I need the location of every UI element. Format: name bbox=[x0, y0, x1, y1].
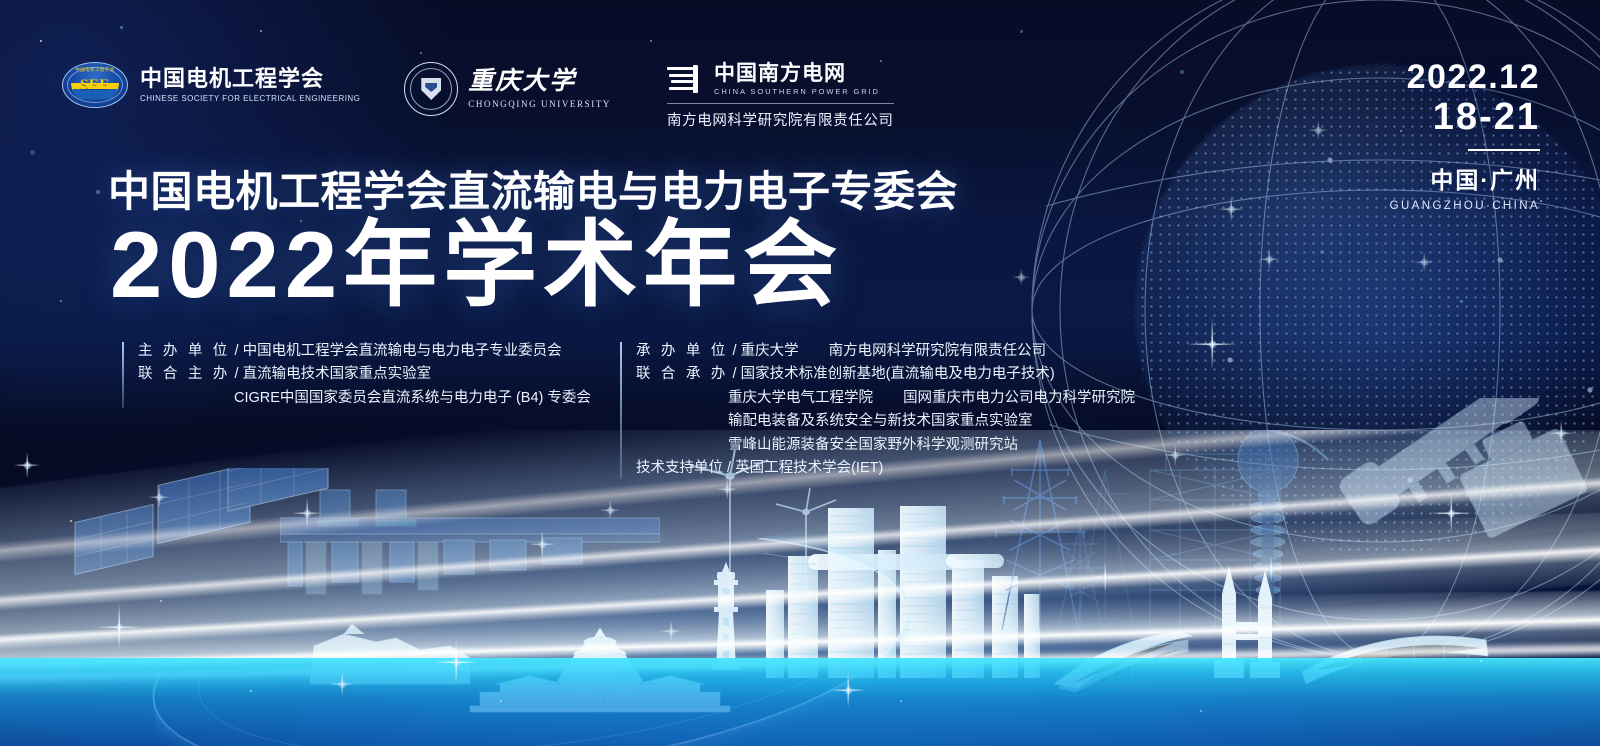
see-emblem-icon: 中国电机工程学会 SEE bbox=[62, 62, 128, 108]
info-accent-bar-left bbox=[122, 342, 124, 408]
logo-chinese-society-electrical-engineering: 中国电机工程学会 SEE 中国电机工程学会 CHINESE SOCIETY FO… bbox=[62, 62, 360, 108]
info-row-value: 英国工程技术学会(IET) bbox=[735, 460, 883, 476]
info-row: CIGRE中国国家委员会直流系统与电力电子 (B4) 专委会 bbox=[138, 387, 591, 410]
city-name-en: GUANGZHOU·CHINA bbox=[1390, 200, 1540, 212]
cyan-sea-foreground bbox=[0, 658, 1600, 746]
date-location-block: 2022.12 18-21 中国·广州 GUANGZHOU·CHINA bbox=[1390, 58, 1540, 212]
csg-divider bbox=[667, 103, 894, 104]
logo-chongqing-university: 重庆大学 CHONGQING UNIVERSITY bbox=[404, 62, 611, 116]
see-emblem-top-text: 中国电机工程学会 bbox=[63, 67, 127, 73]
info-row-value: 重庆大学电气工程学院 bbox=[728, 390, 873, 406]
partner-logo-bar: 中国电机工程学会 SEE 中国电机工程学会 CHINESE SOCIETY FO… bbox=[62, 62, 894, 130]
csg-subsidiary-name: 南方电网科学研究院有限责任公司 bbox=[667, 109, 894, 130]
info-row-value: 雪峰山能源装备安全国家野外科学观测研究站 bbox=[728, 437, 1018, 453]
info-row-value: 中国电机工程学会直流输电与电力电子专业委员会 bbox=[243, 343, 562, 359]
date-year-month: 2022.12 bbox=[1390, 58, 1540, 96]
info-accent-bar-right bbox=[620, 342, 622, 479]
see-name-cn: 中国电机工程学会 bbox=[140, 67, 360, 92]
event-title: 2022年学术年会 bbox=[110, 218, 843, 312]
info-row-value-secondary: 南方电网科学研究院有限责任公司 bbox=[829, 343, 1047, 359]
info-row-value: 输配电装备及系统安全与新技术国家重点实验室 bbox=[728, 413, 1033, 429]
info-row-separator: / bbox=[235, 343, 239, 359]
info-row-value-secondary: 国网重庆市电力公司电力科学研究院 bbox=[903, 390, 1135, 406]
conference-banner: 中国电机工程学会 SEE 中国电机工程学会 CHINESE SOCIETY FO… bbox=[0, 0, 1600, 746]
date-divider bbox=[1468, 149, 1540, 151]
info-row-label: 联 合 承 办 bbox=[636, 366, 729, 382]
cqu-name-cn: 重庆大学 bbox=[468, 69, 611, 95]
csg-name-en: CHINA SOUTHERN POWER GRID bbox=[714, 87, 880, 96]
info-row-value: 重庆大学 bbox=[741, 343, 799, 359]
info-row: 联 合 主 办 / 直流输电技术国家重点实验室 bbox=[138, 363, 591, 386]
info-row: 输配电装备及系统安全与新技术国家重点实验室 bbox=[636, 410, 1135, 433]
info-row-separator: / bbox=[733, 366, 737, 382]
logo-china-southern-power-grid: 中国南方电网 CHINA SOUTHERN POWER GRID 南方电网科学研… bbox=[667, 62, 894, 130]
committee-title: 中国电机工程学会直流输电与电力电子专委会 bbox=[108, 158, 958, 219]
info-row-separator: / bbox=[235, 366, 239, 382]
info-row-value: 直流输电技术国家重点实验室 bbox=[243, 366, 432, 382]
cqu-seal-icon bbox=[404, 62, 458, 116]
organizer-info-left: 主 办 单 位 / 中国电机工程学会直流输电与电力电子专业委员会 联 合 主 办… bbox=[122, 340, 591, 410]
organizer-info-right: 承 办 单 位 / 重庆大学 南方电网科学研究院有限责任公司 联 合 承 办 /… bbox=[620, 340, 1135, 481]
info-row: 技术支持单位 / 英国工程技术学会(IET) bbox=[636, 457, 1135, 480]
see-emblem-letters: SEE bbox=[80, 77, 110, 94]
info-row: 联 合 承 办 / 国家技术标准创新基地(直流输电及电力电子技术) bbox=[636, 363, 1135, 386]
csg-grid-mark-icon bbox=[667, 65, 703, 93]
info-row: 承 办 单 位 / 重庆大学 南方电网科学研究院有限责任公司 bbox=[636, 340, 1135, 363]
info-row: 雪峰山能源装备安全国家野外科学观测研究站 bbox=[636, 434, 1135, 457]
city-name-cn: 中国·广州 bbox=[1390, 161, 1540, 195]
info-row-label: 技术支持单位 bbox=[636, 460, 723, 476]
info-row-separator: / bbox=[733, 343, 737, 359]
csg-name-cn: 中国南方电网 bbox=[714, 62, 880, 85]
info-row: 主 办 单 位 / 中国电机工程学会直流输电与电力电子专业委员会 bbox=[138, 340, 591, 363]
date-days: 18-21 bbox=[1390, 98, 1540, 138]
info-row-label: 联 合 主 办 bbox=[138, 366, 231, 382]
info-row-label: 主 办 单 位 bbox=[138, 343, 231, 359]
see-name-en: CHINESE SOCIETY FOR ELECTRICAL ENGINEERI… bbox=[140, 94, 360, 103]
info-row-value: CIGRE中国国家委员会直流系统与电力电子 (B4) 专委会 bbox=[234, 390, 591, 406]
cqu-name-en: CHONGQING UNIVERSITY bbox=[468, 99, 611, 109]
info-row-label: 承 办 单 位 bbox=[636, 343, 729, 359]
info-row-separator: / bbox=[727, 460, 731, 476]
info-row-value: 国家技术标准创新基地(直流输电及电力电子技术) bbox=[741, 366, 1055, 382]
info-row: 重庆大学电气工程学院 国网重庆市电力公司电力科学研究院 bbox=[636, 387, 1135, 410]
